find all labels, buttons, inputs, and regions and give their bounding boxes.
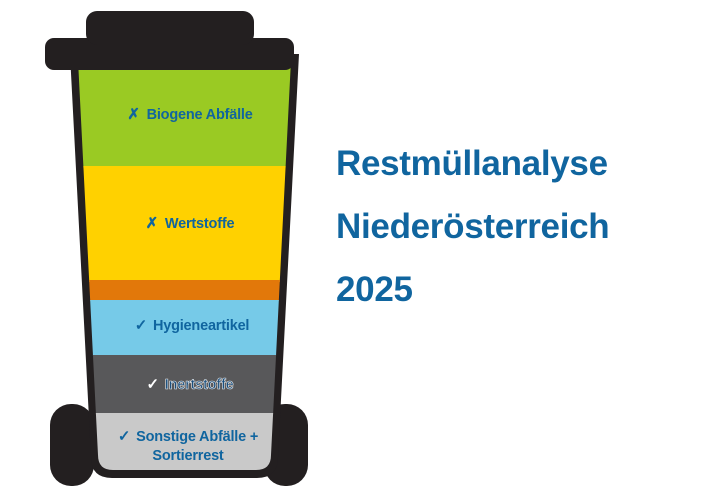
band-label-text: Wertstoffe [165, 216, 235, 232]
waste-bin-illustration: ✗ Biogene Abfälle ✗ Wertstoffe ✓ Hygiene… [0, 0, 340, 493]
bin-wheel-left [50, 404, 94, 486]
cross-icon: ✗ [146, 215, 158, 232]
check-icon: ✓ [147, 376, 159, 393]
band-label-inertstoffe: ✓ Inertstoffe [147, 376, 234, 393]
band-label-text: Hygieneartikel [153, 318, 249, 334]
bin-band-orange-divider [60, 280, 300, 301]
title-line-3: 2025 [336, 258, 708, 321]
check-icon: ✓ [135, 317, 147, 334]
check-icon: ✓ [118, 428, 130, 445]
title-line-2: Niederösterreich [336, 195, 708, 258]
poster-title: Restmüllanalyse Niederösterreich 2025 [336, 132, 708, 321]
cross-icon: ✗ [127, 106, 139, 123]
band-label-text: Biogene Abfälle [147, 107, 253, 123]
title-line-1: Restmüllanalyse [336, 132, 708, 195]
band-label-sonstige-abfaelle: ✓ Sonstige Abfälle + [118, 428, 258, 445]
band-label-text: Sonstige Abfälle + [136, 429, 258, 445]
band-label-sonstige-abfaelle-line2: Sortierrest [152, 448, 224, 464]
bin-lid-top [86, 11, 254, 45]
band-label-biogene-abfaelle: ✗ Biogene Abfälle [127, 106, 252, 123]
poster-canvas: ✗ Biogene Abfälle ✗ Wertstoffe ✓ Hygiene… [0, 0, 720, 493]
band-label-wertstoffe: ✗ Wertstoffe [146, 215, 235, 232]
band-label-text: Inertstoffe [165, 377, 234, 393]
